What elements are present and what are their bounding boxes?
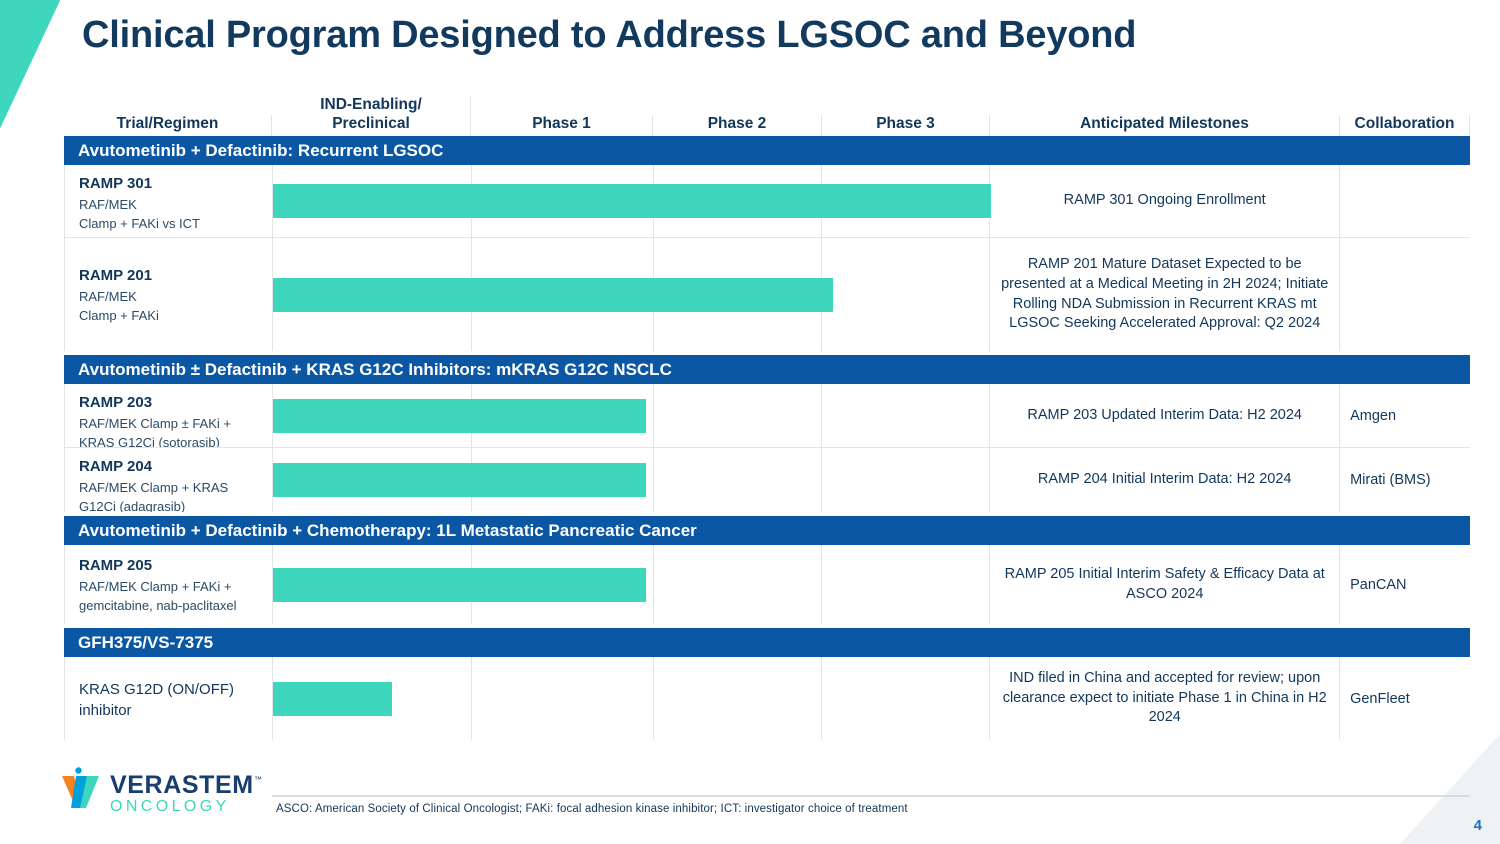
- pipeline-table: Trial/Regimen IND-Enabling/ Preclinical …: [64, 86, 1470, 740]
- phase-cell-phase2: [654, 165, 823, 237]
- column-header-preclinical-line2: Preclinical: [272, 115, 470, 133]
- collaboration-cell: Mirati (BMS): [1340, 448, 1470, 512]
- verastem-oncology-logo: VERASTEM ONCOLOGY ™: [58, 766, 263, 816]
- row-trial-cell: KRAS G12D (ON/OFF) inhibitor: [65, 657, 273, 740]
- phase-cell-preclinical: [273, 384, 472, 447]
- column-header-collaboration: Collaboration: [1340, 115, 1470, 136]
- trial-subtitle-line1: RAF/MEK Clamp + FAKi +: [79, 578, 264, 595]
- phase-cell-phase2: [654, 657, 823, 740]
- trial-subtitle-line2: gemcitabine, nab-paclitaxel: [79, 597, 264, 614]
- trial-subtitle-line2: G12Ci (adagrasib): [79, 498, 264, 512]
- trial-name: RAMP 201: [79, 267, 264, 286]
- table-row: RAMP 205 RAF/MEK Clamp + FAKi + gemcitab…: [65, 545, 1470, 624]
- trial-name: RAMP 203: [79, 394, 264, 413]
- phase-cell-phase2: [654, 384, 823, 447]
- phase-cell-preclinical: [273, 165, 472, 237]
- table-header-row: Trial/Regimen IND-Enabling/ Preclinical …: [64, 86, 1470, 136]
- collaboration-cell: [1340, 238, 1470, 351]
- phase-cell-phase3: [822, 384, 990, 447]
- section-rows-3: RAMP 205 RAF/MEK Clamp + FAKi + gemcitab…: [64, 545, 1470, 624]
- corner-wedge-decoration: [1380, 734, 1500, 844]
- row-trial-cell: RAMP 205 RAF/MEK Clamp + FAKi + gemcitab…: [65, 545, 273, 624]
- row-trial-cell: RAMP 201 RAF/MEK Clamp + FAKi: [65, 238, 273, 351]
- collaboration-cell: GenFleet: [1340, 657, 1470, 740]
- page-title: Clinical Program Designed to Address LGS…: [82, 14, 1136, 57]
- section-header-2: Avutometinib ± Defactinib + KRAS G12C In…: [64, 355, 1470, 384]
- phase-cell-preclinical: [273, 545, 472, 624]
- column-header-phase3: Phase 3: [822, 115, 990, 136]
- trial-name-line1: KRAS G12D (ON/OFF): [79, 679, 264, 700]
- phase-cell-preclinical: [273, 448, 472, 512]
- column-header-phase1: Phase 1: [471, 115, 653, 136]
- row-trial-cell: RAMP 204 RAF/MEK Clamp + KRAS G12Ci (ada…: [65, 448, 273, 512]
- phase-cell-phase3: [822, 448, 990, 512]
- trial-subtitle-line1: RAF/MEK: [79, 288, 264, 305]
- collaboration-cell: [1340, 165, 1470, 237]
- phase-cell-phase1: [472, 165, 654, 237]
- milestone-cell: RAMP 204 Initial Interim Data: H2 2024: [990, 448, 1340, 512]
- phase-cell-phase1: [472, 545, 654, 624]
- section-rows-1: RAMP 301 RAF/MEK Clamp + FAKi vs ICT RAM…: [64, 165, 1470, 351]
- table-row: RAMP 301 RAF/MEK Clamp + FAKi vs ICT RAM…: [65, 165, 1470, 238]
- phase-cell-phase1: [472, 238, 654, 351]
- phase-cell-phase1: [472, 657, 654, 740]
- logo-graphic: VERASTEM ONCOLOGY ™: [58, 766, 263, 816]
- trial-subtitle-line1: RAF/MEK Clamp + KRAS: [79, 479, 264, 496]
- trial-name-line2: inhibitor: [79, 700, 264, 721]
- column-header-preclinical: IND-Enabling/ Preclinical: [272, 96, 471, 136]
- phase-cell-phase2: [654, 448, 823, 512]
- svg-text:™: ™: [254, 775, 262, 784]
- trial-subtitle-line1: RAF/MEK: [79, 196, 264, 213]
- corner-triangle-shape: [0, 0, 60, 128]
- milestone-cell: RAMP 203 Updated Interim Data: H2 2024: [990, 384, 1340, 447]
- table-row: KRAS G12D (ON/OFF) inhibitor IND filed i…: [65, 657, 1470, 740]
- trial-subtitle-line2: Clamp + FAKi vs ICT: [79, 215, 264, 232]
- milestone-cell: RAMP 205 Initial Interim Safety & Effica…: [990, 545, 1340, 624]
- column-header-phase2: Phase 2: [653, 115, 822, 136]
- milestone-cell: RAMP 201 Mature Dataset Expected to be p…: [990, 238, 1340, 351]
- phase-cell-phase3: [822, 165, 990, 237]
- table-row: RAMP 203 RAF/MEK Clamp ± FAKi + KRAS G12…: [65, 384, 1470, 448]
- phase-cell-preclinical: [273, 657, 472, 740]
- collaboration-cell: Amgen: [1340, 384, 1470, 447]
- phase-cell-phase2: [654, 238, 823, 351]
- column-header-milestones: Anticipated Milestones: [990, 115, 1340, 136]
- phase-cell-preclinical: [273, 238, 472, 351]
- phase-cell-phase3: [822, 545, 990, 624]
- phase-cell-phase2: [654, 545, 823, 624]
- section-header-4: GFH375/VS-7375: [64, 628, 1470, 657]
- column-header-preclinical-line1: IND-Enabling/: [272, 96, 470, 114]
- collaboration-cell: PanCAN: [1340, 545, 1470, 624]
- column-header-trial: Trial/Regimen: [64, 115, 272, 136]
- section-rows-4: KRAS G12D (ON/OFF) inhibitor IND filed i…: [64, 657, 1470, 740]
- table-row: RAMP 201 RAF/MEK Clamp + FAKi RAMP 201 M…: [65, 238, 1470, 351]
- phase-cell-phase1: [472, 448, 654, 512]
- corner-wedge-shape: [1380, 734, 1500, 844]
- phase-cell-phase3: [822, 657, 990, 740]
- trial-name: RAMP 301: [79, 175, 264, 194]
- section-header-3: Avutometinib + Defactinib + Chemotherapy…: [64, 516, 1470, 545]
- row-trial-cell: RAMP 203 RAF/MEK Clamp ± FAKi + KRAS G12…: [65, 384, 273, 447]
- corner-triangle-decoration: [0, 0, 60, 128]
- trial-subtitle-line2: Clamp + FAKi: [79, 307, 264, 324]
- milestone-cell: RAMP 301 Ongoing Enrollment: [990, 165, 1340, 237]
- trial-name: RAMP 205: [79, 557, 264, 576]
- page-number: 4: [1474, 817, 1482, 834]
- footer-divider: [272, 795, 1470, 797]
- trial-name: RAMP 204: [79, 458, 264, 477]
- section-header-1: Avutometinib + Defactinib: Recurrent LGS…: [64, 136, 1470, 165]
- row-trial-cell: RAMP 301 RAF/MEK Clamp + FAKi vs ICT: [65, 165, 273, 237]
- footnote: ASCO: American Society of Clinical Oncol…: [276, 803, 908, 815]
- svg-text:VERASTEM: VERASTEM: [110, 771, 254, 799]
- phase-cell-phase1: [472, 384, 654, 447]
- phase-cell-phase3: [822, 238, 990, 351]
- milestone-cell: IND filed in China and accepted for revi…: [990, 657, 1340, 740]
- trial-subtitle-line2: KRAS G12Ci (sotorasib): [79, 434, 264, 447]
- table-row: RAMP 204 RAF/MEK Clamp + KRAS G12Ci (ada…: [65, 448, 1470, 512]
- trial-subtitle-line1: RAF/MEK Clamp ± FAKi +: [79, 415, 264, 432]
- svg-text:ONCOLOGY: ONCOLOGY: [110, 798, 230, 815]
- section-rows-2: RAMP 203 RAF/MEK Clamp ± FAKi + KRAS G12…: [64, 384, 1470, 512]
